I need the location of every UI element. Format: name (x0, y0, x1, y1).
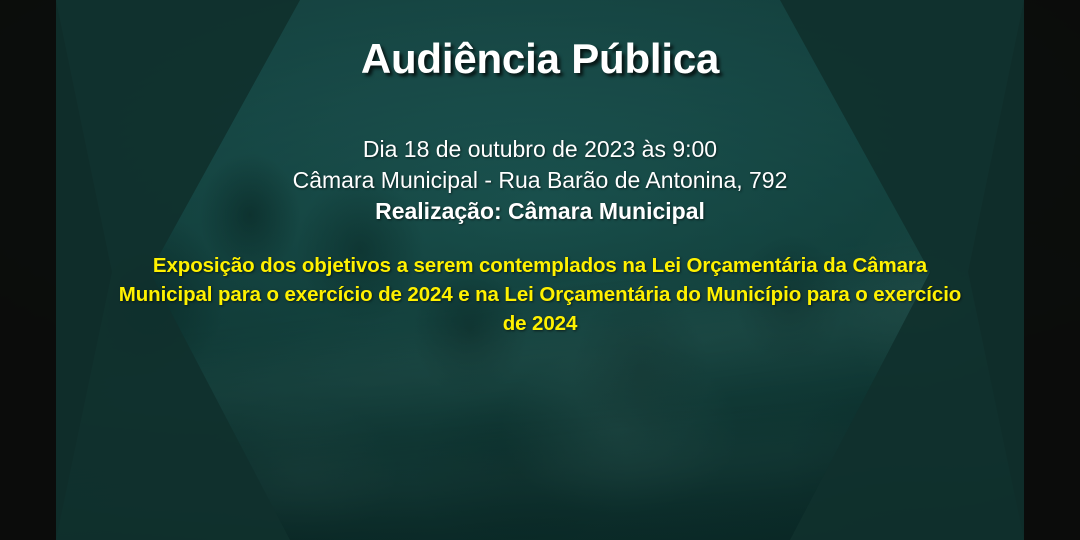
banner-title: Audiência Pública (361, 36, 719, 82)
event-description-block: Exposição dos objetivos a serem contempl… (100, 251, 980, 338)
description-line-3: de 2024 (100, 309, 980, 338)
description-line-1: Exposição dos objetivos a serem contempl… (100, 251, 980, 280)
event-details-block: Dia 18 de outubro de 2023 às 9:00 Câmara… (293, 134, 788, 226)
event-location: Câmara Municipal - Rua Barão de Antonina… (293, 165, 788, 196)
banner-content: Audiência Pública Dia 18 de outubro de 2… (0, 0, 1080, 540)
event-date-time: Dia 18 de outubro de 2023 às 9:00 (293, 134, 788, 165)
public-hearing-banner: Audiência Pública Dia 18 de outubro de 2… (0, 0, 1080, 540)
description-line-2: Municipal para o exercício de 2024 e na … (100, 280, 980, 309)
event-organizer: Realização: Câmara Municipal (293, 196, 788, 227)
